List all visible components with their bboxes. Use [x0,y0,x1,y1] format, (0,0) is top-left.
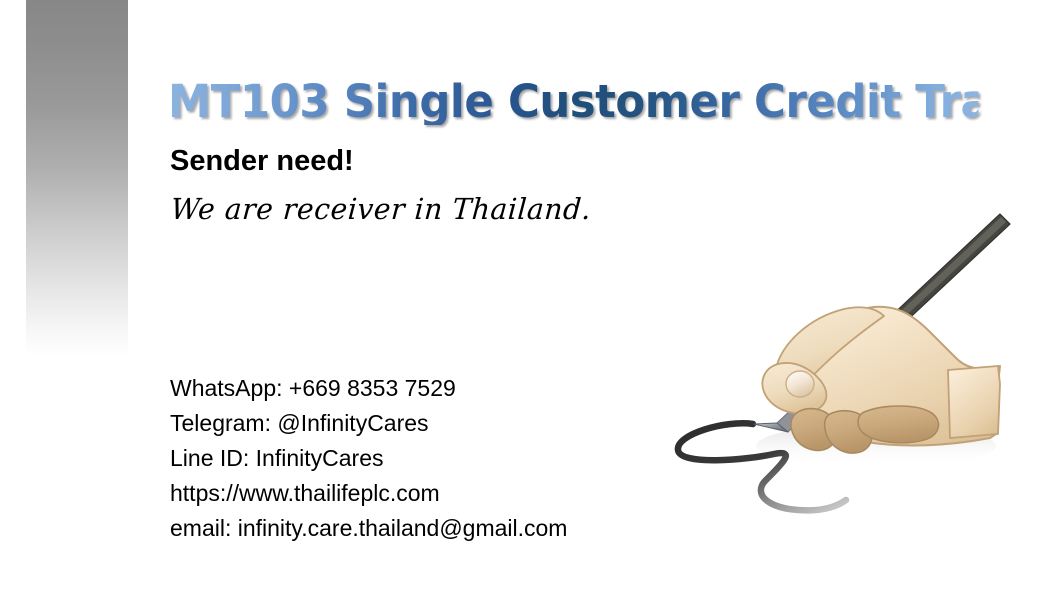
hand-thumb-tip [786,371,814,397]
contact-block: WhatsApp: +669 8353 7529 Telegram: @Infi… [170,371,690,546]
contact-line-telegram: Telegram: @InfinityCares [170,406,690,441]
contact-line-email[interactable]: email: infinity.care.thailand@gmail.com [170,511,690,546]
hand-wrist [948,366,1000,438]
subheading: Sender need! [170,145,354,178]
left-gradient-bar [26,0,128,356]
slide-canvas: MT103 Single Customer Credit Transfer Se… [0,0,1063,600]
hand-writing-with-pen-image [648,198,1030,532]
page-title: MT103 Single Customer Credit Transfer [168,78,979,125]
contact-line-line-id: Line ID: InfinityCares [170,441,690,476]
contact-line-whatsapp: WhatsApp: +669 8353 7529 [170,371,690,406]
script-tagline: We are receiver in Thailand. [170,192,593,226]
contact-line-website[interactable]: https://www.thailifeplc.com [170,476,690,511]
hand-little-finger [858,406,938,443]
